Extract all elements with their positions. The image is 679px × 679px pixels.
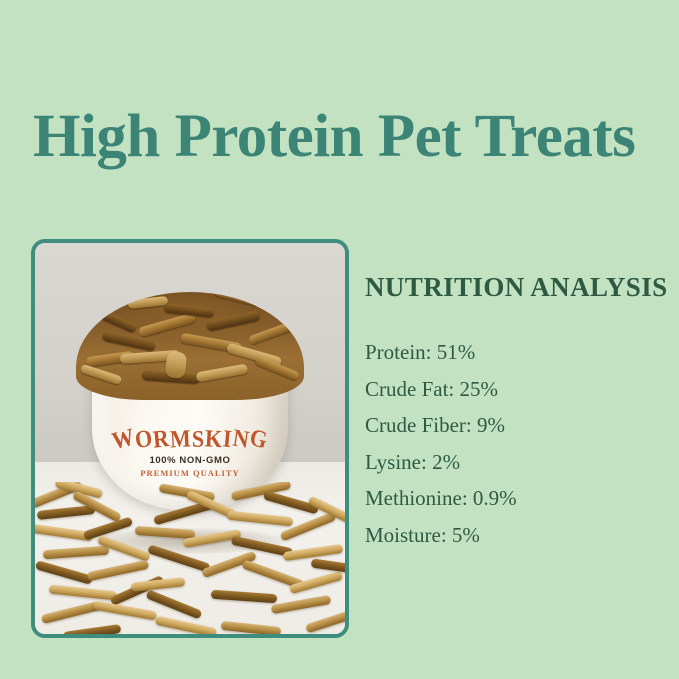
scattered-mealworms xyxy=(35,482,345,635)
brand-letter: R xyxy=(152,423,172,454)
nutrition-item-moisture: Moisture: 5% xyxy=(365,517,671,554)
brand-letter: K xyxy=(204,424,223,454)
nutrition-panel: NUTRITION ANALYSIS Protein: 51% Crude Fa… xyxy=(365,272,671,553)
brand-letter: W xyxy=(109,422,137,456)
brand-letter: S xyxy=(192,424,205,453)
bowl-premium-quality-text: PREMIUM QUALITY xyxy=(92,468,288,478)
nutrition-item-protein: Protein: 51% xyxy=(365,334,671,371)
page-title: High Protein Pet Treats xyxy=(33,104,673,170)
nutrition-item-lysine: Lysine: 2% xyxy=(365,444,671,481)
brand-letter: O xyxy=(133,423,155,455)
product-infographic: High Protein Pet Treats xyxy=(0,0,679,679)
bowl-brand-text: WORMSKING xyxy=(92,424,288,453)
nutrition-item-crude-fiber: Crude Fiber: 9% xyxy=(365,407,671,444)
brand-letter: I xyxy=(222,424,234,454)
product-photo: WORMSKING 100% NON-GMO PREMIUM QUALITY xyxy=(35,243,345,634)
nutrition-heading: NUTRITION ANALYSIS xyxy=(365,272,671,303)
brand-letter: G xyxy=(247,422,271,455)
product-photo-card: WORMSKING 100% NON-GMO PREMIUM QUALITY xyxy=(31,239,349,638)
brand-letter: N xyxy=(231,423,252,455)
nutrition-item-crude-fat: Crude Fat: 25% xyxy=(365,371,671,408)
brand-letter: M xyxy=(169,424,192,454)
nutrition-item-methionine: Methionine: 0.9% xyxy=(365,480,671,517)
bowl-logo: WORMSKING 100% NON-GMO PREMIUM QUALITY xyxy=(92,426,288,478)
nutrition-list: Protein: 51% Crude Fat: 25% Crude Fiber:… xyxy=(365,334,671,553)
bowl-non-gmo-text: 100% NON-GMO xyxy=(92,455,288,466)
